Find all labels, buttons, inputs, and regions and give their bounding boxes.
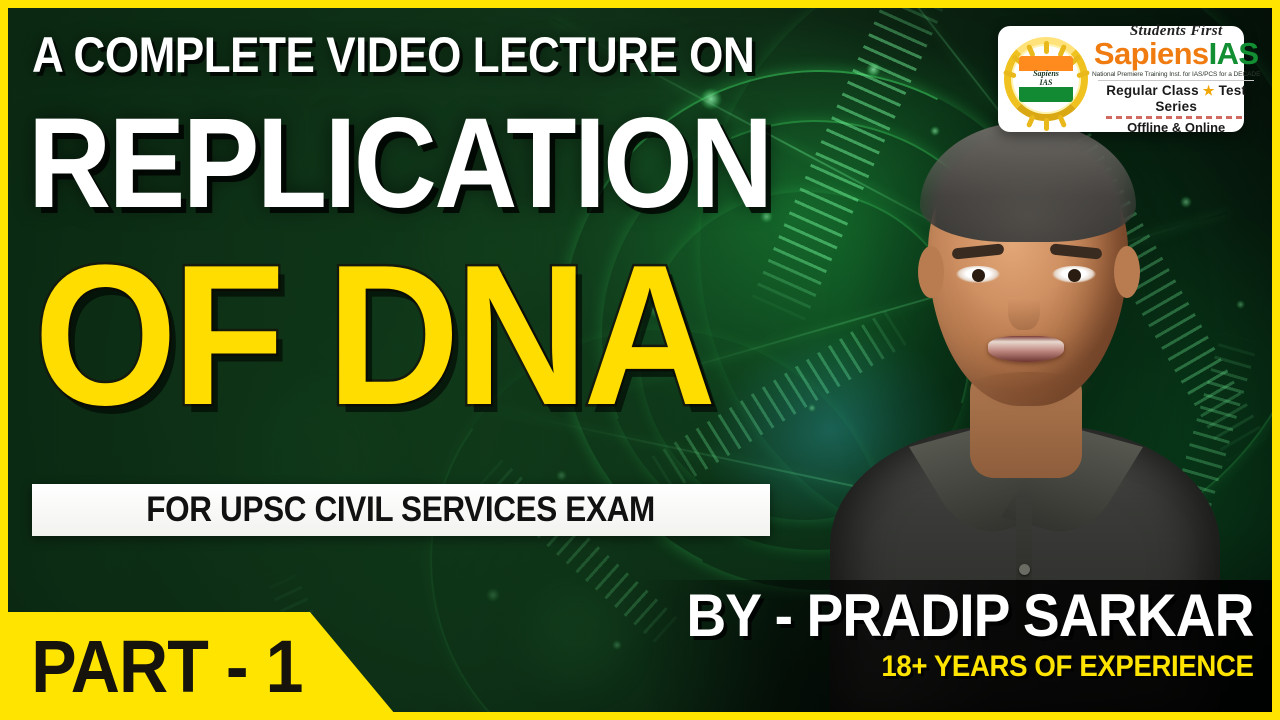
india-flag-icon: Sapiens IAS <box>1019 56 1073 102</box>
logo-divider <box>1098 80 1254 81</box>
frame-left <box>0 0 8 720</box>
frame-top <box>0 0 1280 8</box>
logo-mode: Offline & Online <box>1092 120 1260 135</box>
emblem-line-2: IAS <box>1019 78 1073 87</box>
video-thumbnail: A COMPLETE VIDEO LECTURE ON REPLICATION … <box>0 0 1280 720</box>
logo-offering-left: Regular Class <box>1106 83 1199 98</box>
title-line-1: REPLICATION <box>28 100 771 228</box>
title-line-2: OF DNA <box>34 236 712 436</box>
emblem-icon: Sapiens IAS <box>1004 37 1088 121</box>
logo-dashed-divider <box>1106 116 1246 119</box>
subtitle-banner: FOR UPSC CIVIL SERVICES EXAM <box>32 484 770 536</box>
logo-brand-ias: IAS <box>1209 36 1259 71</box>
frame-right <box>1272 0 1280 720</box>
channel-logo[interactable]: Sapiens IAS Students First SapiensIAS Na… <box>998 26 1244 132</box>
logo-offerings: Regular Class ★ Test Series <box>1092 83 1260 114</box>
logo-brand: SapiensIAS <box>1092 38 1260 71</box>
logo-tagline: National Premiere Training Inst. for IAS… <box>1092 71 1260 78</box>
experience-badge: 18+ YEARS OF EXPERIENCE <box>882 652 1254 682</box>
part-label: PART - 1 <box>0 624 303 709</box>
logo-brand-sapiens: Sapiens <box>1094 36 1209 71</box>
emblem-line-1: Sapiens <box>1019 69 1073 78</box>
kicker-text: A COMPLETE VIDEO LECTURE ON <box>32 30 754 80</box>
star-icon: ★ <box>1203 83 1215 98</box>
presenter-name: BY - PRADIP SARKAR <box>687 586 1254 646</box>
subtitle-text: FOR UPSC CIVIL SERVICES EXAM <box>147 490 656 530</box>
frame-bottom <box>0 712 1280 720</box>
presenter-photo <box>820 96 1220 616</box>
